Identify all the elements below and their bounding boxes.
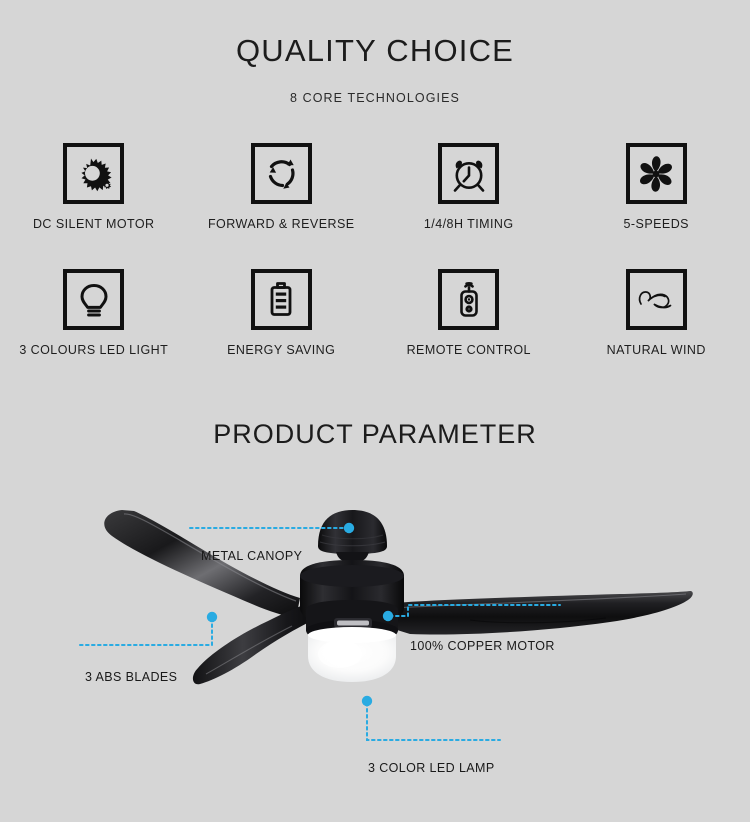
callout-metal-canopy: METAL CANOPY [201,549,302,563]
callout-connectors [0,0,750,780]
product-diagram [0,458,750,758]
callout-led-lamp: 3 COLOR LED LAMP [368,761,495,775]
callout-abs-blades: 3 ABS BLADES [85,670,177,684]
motor-marker [383,611,393,621]
callout-copper-motor: 100% COPPER MOTOR [410,639,555,653]
lamp-marker [362,696,372,706]
blades-marker [207,612,217,622]
canopy-marker [344,523,354,533]
